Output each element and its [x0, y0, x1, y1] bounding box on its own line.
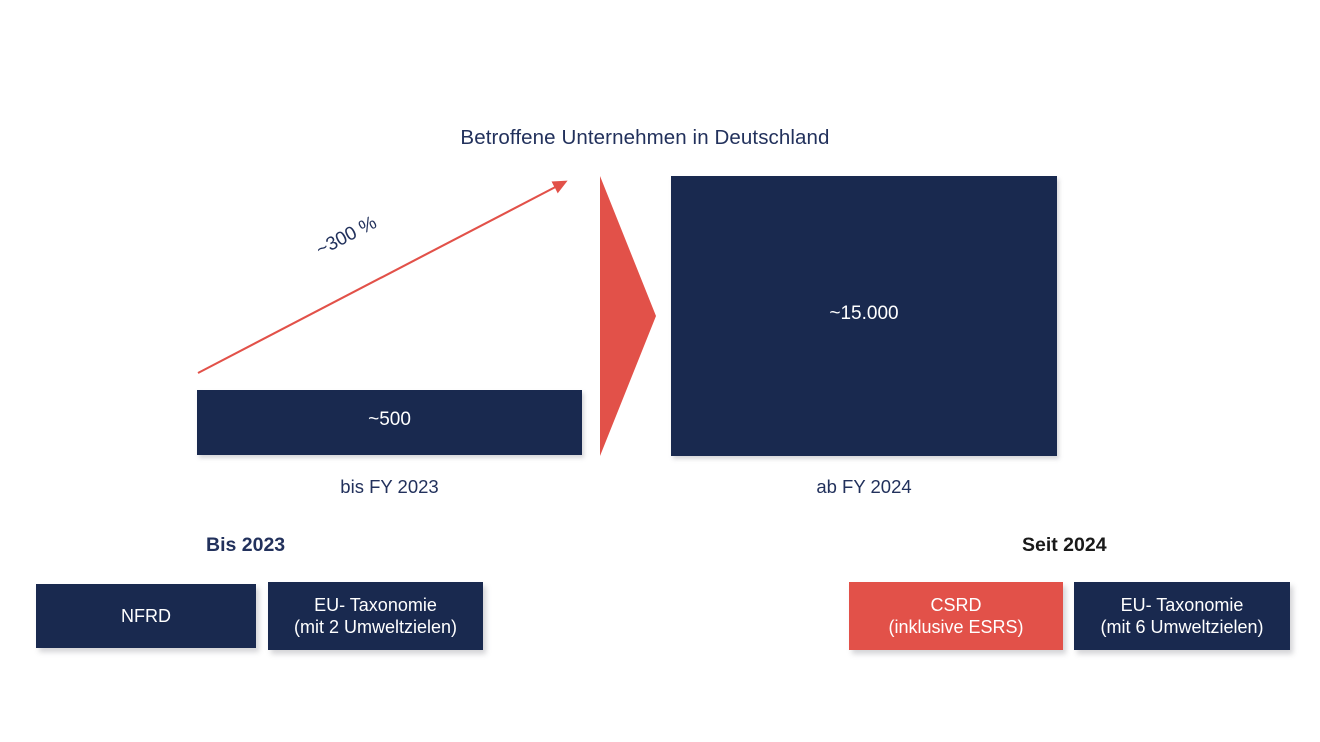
regulation-box-eu-taxonomie-2-line-1: EU- Taxonomie [314, 594, 437, 616]
group-heading-seit-2024: Seit 2024 [1022, 534, 1107, 557]
bar-caption-ab-fy-2024: ab FY 2024 [671, 476, 1057, 498]
bar-value-ab-fy-2024: ~15.000 [671, 303, 1057, 325]
bar-caption-bis-fy-2023: bis FY 2023 [197, 476, 582, 498]
regulation-box-csrd-line-1: CSRD [930, 594, 981, 616]
slide-canvas: Betroffene Unternehmen in Deutschland ~5… [0, 0, 1320, 742]
regulation-box-csrd-line-2: (inklusive ESRS) [888, 616, 1023, 638]
regulation-box-eu-taxonomie-6[interactable]: EU- Taxonomie (mit 6 Umweltzielen) [1074, 582, 1290, 650]
triangle-right-icon [598, 174, 658, 458]
regulation-box-nfrd[interactable]: NFRD [36, 584, 256, 648]
regulation-box-eu-taxonomie-2[interactable]: EU- Taxonomie (mit 2 Umweltzielen) [268, 582, 483, 650]
bar-value-bis-fy-2023: ~500 [197, 409, 582, 431]
page-title: Betroffene Unternehmen in Deutschland [0, 126, 1290, 150]
regulation-box-eu-taxonomie-6-line-2: (mit 6 Umweltzielen) [1100, 616, 1263, 638]
regulation-box-eu-taxonomie-2-line-2: (mit 2 Umweltzielen) [294, 616, 457, 638]
bar-ab-fy-2024: ~15.000 [671, 176, 1057, 456]
bar-bis-fy-2023: ~500 [197, 390, 582, 455]
regulation-box-eu-taxonomie-6-line-1: EU- Taxonomie [1121, 594, 1244, 616]
regulation-box-nfrd-line-1: NFRD [121, 605, 171, 627]
regulation-box-csrd[interactable]: CSRD (inklusive ESRS) [849, 582, 1063, 650]
group-heading-bis-2023: Bis 2023 [206, 534, 285, 557]
growth-arrow-icon [185, 165, 585, 390]
